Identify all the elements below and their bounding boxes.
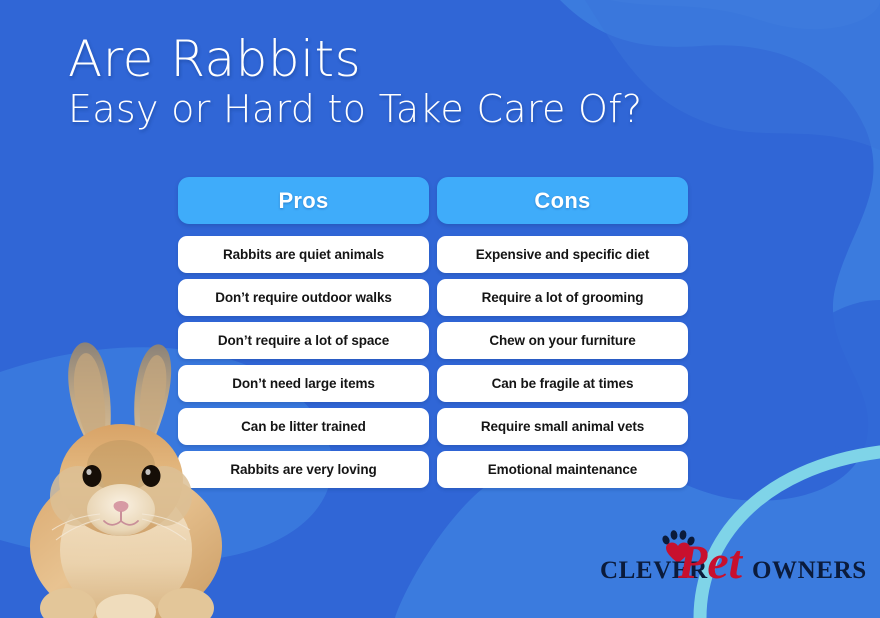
list-item: Emotional maintenance [437, 451, 688, 488]
list-item: Expensive and specific diet [437, 236, 688, 273]
page-title: Are Rabbits Easy or Hard to Take Care Of… [68, 32, 642, 131]
cons-list: Expensive and specific diet Require a lo… [437, 236, 688, 488]
title-line-secondary: Easy or Hard to Take Care Of? [68, 88, 642, 131]
column-header-pros: Pros [178, 177, 429, 224]
rabbit-photo [8, 328, 238, 618]
logo-word-owners: OWNERS [752, 557, 867, 584]
list-item: Chew on your furniture [437, 322, 688, 359]
brand-logo: CLEVER Pet OWNERS [600, 528, 870, 590]
list-item: Can be fragile at times [437, 365, 688, 402]
list-item: Require small animal vets [437, 408, 688, 445]
rabbit-eye-left [83, 465, 102, 487]
infographic-canvas: Are Rabbits Easy or Hard to Take Care Of… [0, 0, 880, 618]
title-line-primary: Are Rabbits [68, 32, 642, 86]
logo-word-pet: Pet [677, 536, 744, 589]
blob-upper-right [610, 0, 880, 29]
rabbit-head [50, 424, 192, 540]
list-item: Rabbits are quiet animals [178, 236, 429, 273]
rabbit-eye-right [142, 465, 161, 487]
blob-notch-right [788, 300, 880, 452]
list-item: Require a lot of grooming [437, 279, 688, 316]
column-header-cons: Cons [437, 177, 688, 224]
column-cons: Cons Expensive and specific diet Require… [437, 177, 688, 488]
list-item: Don’t require outdoor walks [178, 279, 429, 316]
pros-cons-table: Pros Rabbits are quiet animals Don’t req… [178, 177, 688, 488]
